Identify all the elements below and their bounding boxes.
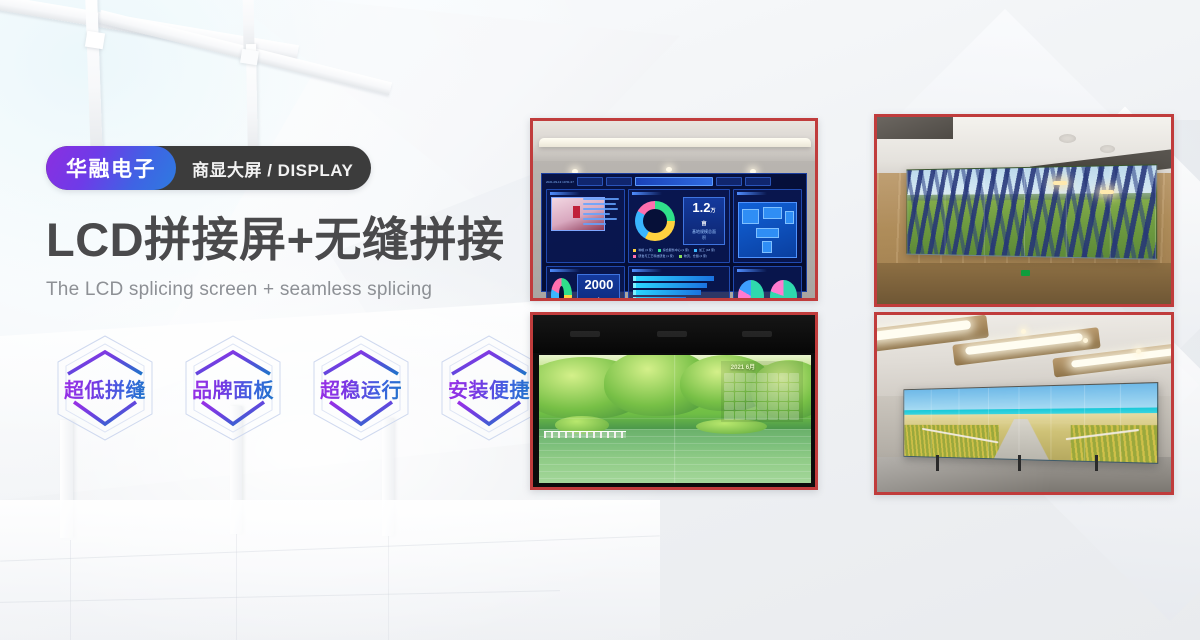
promo-banner: 华融电子 商显大屏 / DISPLAY LCD拼接屏+无缝拼接 The LCD … [0, 0, 1200, 640]
kpi-secondary-value: 2000 [584, 277, 613, 292]
pie-chart-group [738, 280, 797, 301]
page-subtitle: The LCD splicing screen + seamless splic… [46, 279, 516, 301]
dashboard-row-bottom: 2000亩 种植面积统计 粮食 中药材 果蔬 茶叶 花卉苗木 [546, 266, 802, 301]
background-floor-seam-3 [70, 540, 71, 640]
copy-column: 华融电子 商显大屏 / DISPLAY LCD拼接屏+无缝拼接 The LCD … [46, 146, 516, 301]
photo-solar-farm-video-wall [874, 114, 1174, 307]
legend-item: 物流、仓储 (4 家) [684, 254, 707, 258]
brand-badge: 华融电子 商显大屏 / DISPLAY [46, 146, 371, 190]
photo-beach-boardwalk-hall [874, 312, 1174, 495]
brand-category: 商显大屏 / DISPLAY [154, 146, 371, 190]
kpi-secondary-unit: 亩 [596, 298, 601, 301]
video-wall-display [906, 165, 1157, 260]
legend-item: 加工 (18 家) [699, 248, 715, 252]
feature-badge-label: 安装便捷 [448, 374, 530, 403]
ceiling-beam-joint-2 [240, 49, 259, 65]
donut-chart [635, 201, 675, 241]
ceiling-beam-joint-1 [85, 31, 105, 50]
dashboard-panel-planting-ratio: 2000亩 种植面积统计 粮食 中药材 果蔬 茶叶 花卉苗木 [546, 266, 625, 301]
feature-badge-label: 超低拼缝 [64, 374, 146, 403]
dashboard-panel-market-bars [628, 266, 730, 301]
dashboard-nav-item-0[interactable] [577, 177, 603, 186]
dashboard-nav-item-2-active[interactable] [635, 177, 713, 186]
kpi-primary-value: 1.2 [692, 200, 710, 215]
dashboard-panel-overview [546, 189, 625, 263]
photo-park-scene-video-wall: 2021 6月 [530, 312, 818, 490]
pie-chart-1 [738, 280, 765, 301]
pie-chart-2 [770, 280, 797, 301]
ceiling-beam-vertical-2 [242, 0, 254, 56]
page-title: LCD拼接屏+无缝拼接 [46, 216, 516, 265]
legend-top: 种植 (3 家) 综合服务中心 (1 家) 加工 (18 家) 研发与工艺科技研… [633, 248, 725, 258]
ceiling-beam-vertical-1 [85, 0, 103, 165]
panel-text-lines [583, 198, 620, 228]
exit-sign-icon [1021, 270, 1030, 276]
background-floor-seam-5 [388, 536, 389, 640]
background-floor-seam-4 [236, 534, 237, 640]
dashboard-nav-item-1[interactable] [606, 177, 632, 186]
background-floor-glow [0, 500, 660, 640]
dashboard-nav-item-3[interactable] [716, 177, 742, 186]
photo-control-room-dashboard: 2021-09-13 10:51:27 [530, 118, 818, 301]
video-wall-display [903, 382, 1157, 464]
dashboard-nav-item-4[interactable] [745, 177, 771, 186]
bar-chart [633, 276, 725, 301]
flow-diagram [738, 202, 797, 258]
dashboard-timestamp: 2021-09-13 10:51:27 [546, 180, 574, 184]
ceiling-beam-horizontal-2 [98, 10, 392, 95]
dashboard-panel-enterprise-stats: 1.2万亩 基地规模总面积 种植 (3 家) 综合服务中心 (1 家) 加工 (… [628, 189, 730, 263]
legend-item: 研发与工艺科技研发 (1 家) [638, 254, 673, 258]
brand-name: 华融电子 [46, 146, 176, 190]
legend-item: 综合服务中心 (1 家) [663, 248, 689, 252]
background-floor-seam-1 [0, 535, 660, 561]
kpi-secondary: 2000亩 种植面积统计 [577, 274, 620, 301]
dashboard-screen: 2021-09-13 10:51:27 [541, 173, 807, 292]
dashboard-nav: 2021-09-13 10:51:27 [546, 177, 802, 186]
dashboard-panel-pies [733, 266, 802, 301]
dashboard-panel-eco-flow [733, 189, 802, 263]
kpi-primary-note: 基地规模总面积 [690, 229, 718, 241]
legend-item: 种植 (3 家) [638, 248, 652, 252]
dashboard-row-top: 1.2万亩 基地规模总面积 种植 (3 家) 综合服务中心 (1 家) 加工 (… [546, 189, 802, 263]
feature-badge-0: 超低拼缝 [46, 332, 164, 444]
feature-badge-2: 超稳运行 [302, 332, 420, 444]
ceiling-beam-horizontal-1 [0, 0, 299, 60]
product-photo-grid: 2021-09-13 10:51:27 [530, 118, 1170, 490]
feature-badge-label: 品牌面板 [192, 374, 274, 403]
kpi-primary: 1.2万亩 基地规模总面积 [683, 197, 725, 245]
feature-badge-label: 超稳运行 [320, 374, 402, 403]
video-wall-display: 2021 6月 [539, 355, 811, 483]
feature-badge-1: 品牌面板 [174, 332, 292, 444]
background-floor-seam-2 [0, 590, 560, 603]
donut-chart [551, 278, 572, 301]
feature-badge-list: 超低拼缝 品牌面板 超稳运行 [46, 332, 548, 444]
